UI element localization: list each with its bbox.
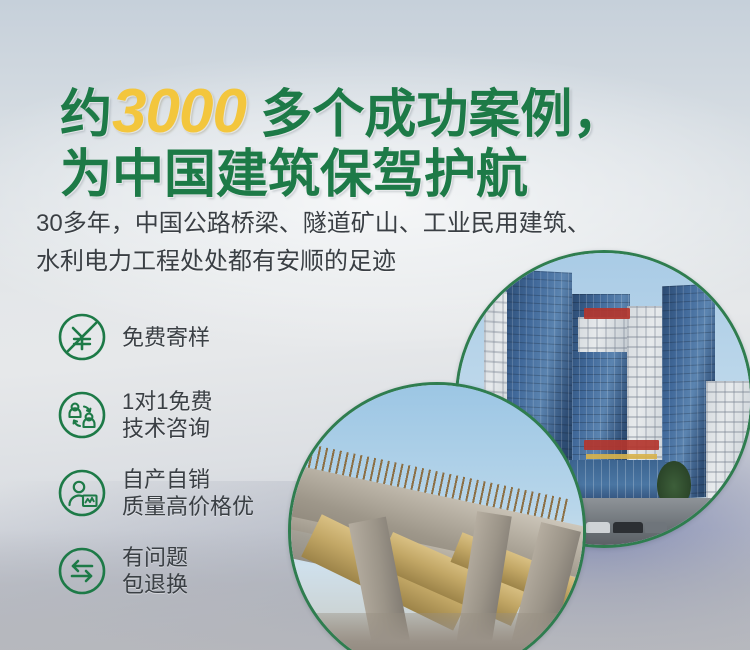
feature-item-free-sample[interactable]: 免费寄样: [56, 298, 316, 376]
feature-text: 有问题 包退换: [122, 544, 188, 598]
feature-line-1: 1对1免费: [122, 388, 212, 415]
facade-sign-red: [584, 440, 660, 451]
subtitle: 30多年，中国公路桥梁、隧道矿山、工业民用建筑、 水利电力工程处处都有安顺的足迹: [36, 205, 591, 281]
feature-line-1: 有问题: [122, 544, 188, 571]
feature-item-consult[interactable]: 1对1免费 技术咨询: [56, 376, 316, 454]
feature-line-2: 技术咨询: [122, 415, 212, 442]
roof-sign-red: [584, 308, 631, 318]
tower-center-band: [578, 317, 628, 352]
feature-line-1: 免费寄样: [122, 324, 210, 351]
one-on-one-consult-icon: [56, 389, 108, 441]
feature-line-2: 质量高价格优: [122, 493, 254, 520]
feature-list: 免费寄样 1对1免费 技术咨询: [56, 298, 316, 610]
headline-line-1: 约3000 多个成功案例，: [60, 82, 624, 145]
car: [645, 522, 667, 533]
feature-item-self-production[interactable]: 自产自销 质量高价格优: [56, 454, 316, 532]
headline-prefix: 约: [60, 86, 112, 144]
self-production-chart-icon: [56, 467, 108, 519]
feature-line-1: 自产自销: [122, 466, 254, 493]
facade-sign-gold: [586, 454, 656, 459]
subtitle-line-1: 30多年，中国公路桥梁、隧道矿山、工业民用建筑、: [36, 205, 591, 243]
headline-number: 3000: [112, 77, 246, 146]
feature-text: 1对1免费 技术咨询: [122, 388, 212, 442]
feature-line-2: 包退换: [122, 571, 188, 598]
feature-item-return-exchange[interactable]: 有问题 包退换: [56, 532, 316, 610]
return-exchange-icon: [56, 545, 108, 597]
headline-suffix: 多个成功案例，: [260, 86, 624, 144]
bridge-photo: [288, 382, 586, 650]
building-far-right: [706, 381, 750, 504]
construction-ground: [291, 613, 583, 650]
headline: 约3000 多个成功案例， 为中国建筑保驾护航: [60, 82, 624, 205]
feature-text: 自产自销 质量高价格优: [122, 466, 254, 520]
headline-line-2: 为中国建筑保驾护航: [60, 145, 624, 205]
car: [613, 522, 643, 533]
feature-text: 免费寄样: [122, 324, 210, 351]
subtitle-line-2: 水利电力工程处处都有安顺的足迹: [36, 243, 591, 281]
free-sample-yen-icon: [56, 311, 108, 363]
promo-banner: 约3000 多个成功案例， 为中国建筑保驾护航 30多年，中国公路桥梁、隧道矿山…: [0, 0, 750, 650]
entrance-podium: [569, 460, 665, 501]
bridge-photo-art: [291, 385, 583, 650]
car: [586, 522, 610, 533]
